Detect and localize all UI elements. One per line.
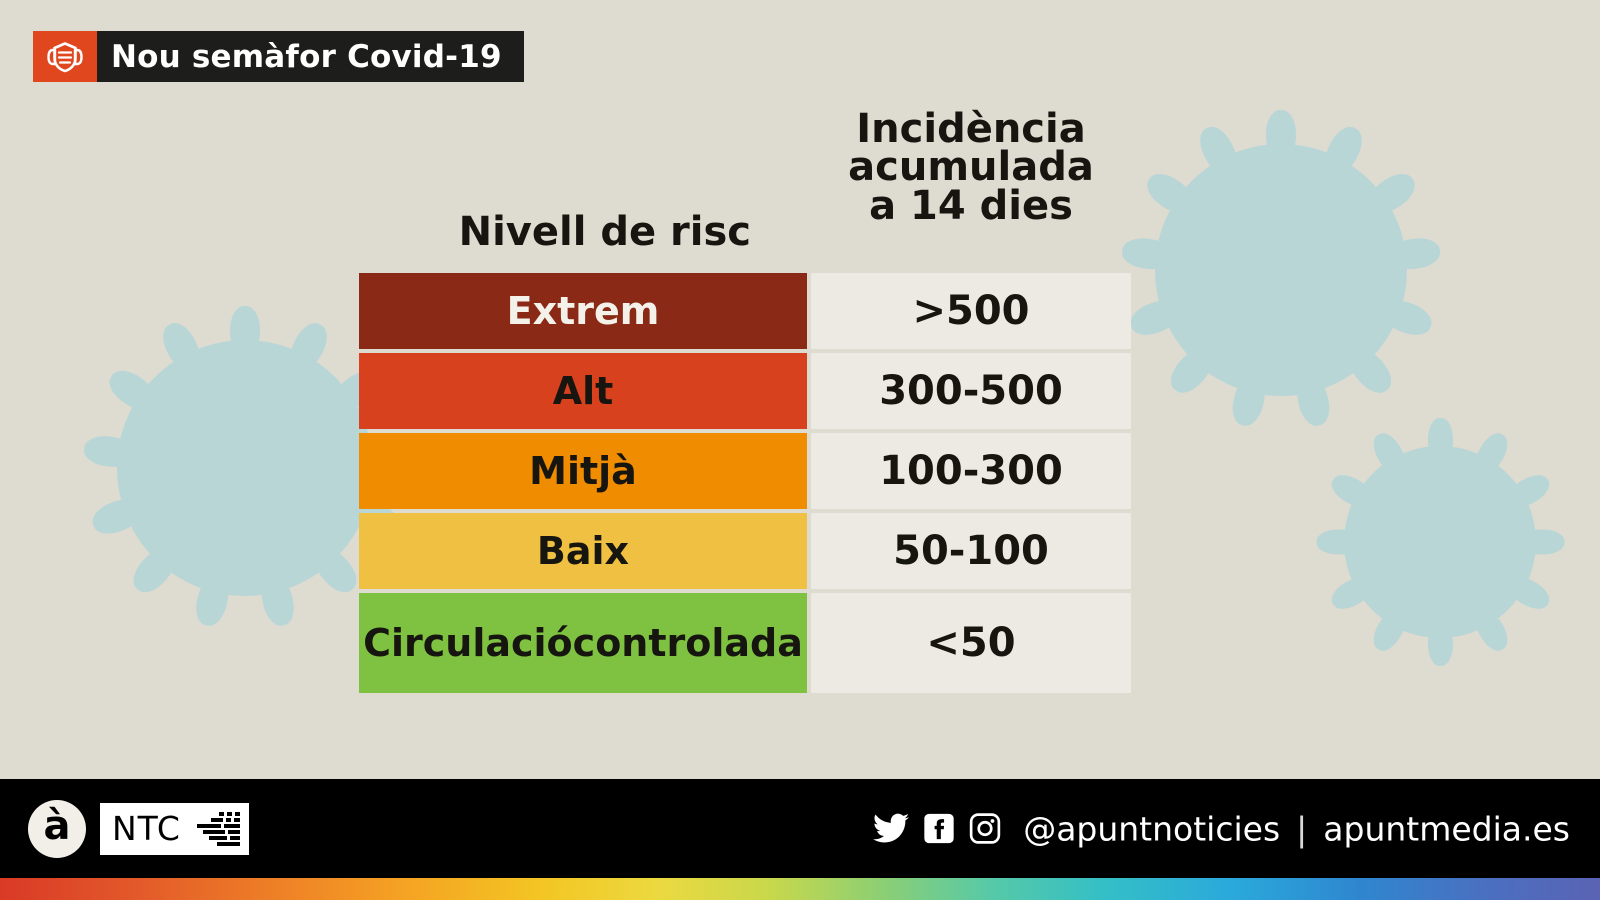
- virus-spike: [1377, 294, 1436, 340]
- risk-level-label: Baix: [537, 533, 629, 570]
- risk-level-label: Extrem: [507, 293, 660, 330]
- risk-level-label: Circulació: [363, 625, 573, 662]
- virus-spike: [1326, 469, 1378, 514]
- virus-spike: [230, 306, 260, 358]
- table-row: Extrem>500: [359, 273, 1131, 349]
- virus-spike: [1501, 469, 1553, 514]
- footer-bar: à NTC: [0, 779, 1600, 878]
- virus-particle: [1121, 110, 1441, 430]
- incidence-value-cell: 50-100: [811, 513, 1131, 589]
- virus-spike: [1361, 167, 1421, 221]
- virus-spike: [192, 571, 234, 629]
- column-header-incidence-line2: acumulada: [812, 148, 1130, 186]
- virus-spike: [156, 318, 207, 378]
- table-row: Mitjà100-300: [359, 433, 1131, 509]
- virus-spike: [1193, 121, 1244, 181]
- column-header-risk-level: Nivell de risc: [459, 209, 751, 255]
- virus-body: [117, 340, 373, 596]
- virus-spike: [88, 493, 147, 539]
- facebook-icon[interactable]: [923, 813, 955, 845]
- ntc-logo-text: NTC: [112, 812, 181, 845]
- footer-separator: |: [1294, 809, 1309, 848]
- virus-particle: [1316, 418, 1564, 666]
- risk-level-cell: Mitjà: [359, 433, 807, 509]
- virus-spike: [1316, 530, 1362, 555]
- risk-level-table: Extrem>500Alt300-500Mitjà100-300Baix50-1…: [359, 273, 1131, 697]
- incidence-value-cell: 100-300: [811, 433, 1131, 509]
- virus-spike: [1318, 121, 1369, 181]
- virus-spike: [1386, 236, 1441, 272]
- virus-body: [1155, 144, 1407, 396]
- virus-spike: [1120, 236, 1175, 272]
- table-row: Baix50-100: [359, 513, 1131, 589]
- virus-spike: [1428, 620, 1453, 666]
- column-header-incidence: Incidència acumulada a 14 dies: [812, 110, 1130, 225]
- twitter-icon[interactable]: [873, 814, 909, 844]
- footer-social: @apuntnoticies | apuntmedia.es: [873, 809, 1570, 848]
- virus-body: [1344, 446, 1536, 638]
- face-mask-icon: [33, 31, 97, 82]
- virus-spike: [1292, 371, 1334, 429]
- virus-spike: [1326, 570, 1378, 615]
- risk-level-label: Mitjà: [529, 453, 637, 490]
- ntc-stripes-icon: [189, 809, 241, 849]
- risk-level-cell: Extrem: [359, 273, 807, 349]
- virus-spike: [1266, 110, 1296, 162]
- incidence-value-cell: <50: [811, 593, 1131, 693]
- virus-spike: [1428, 418, 1453, 464]
- apunt-logo: à: [28, 800, 86, 858]
- virus-spike: [257, 571, 299, 629]
- virus-spike: [1228, 371, 1270, 429]
- virus-spike: [283, 318, 334, 378]
- column-header-incidence-line3: a 14 dies: [812, 187, 1130, 225]
- risk-level-cell: Alt: [359, 353, 807, 429]
- header-title: Nou semàfor Covid-19: [97, 31, 524, 82]
- virus-spike: [1468, 428, 1513, 480]
- table-row: Alt300-500: [359, 353, 1131, 429]
- virus-spike: [1126, 294, 1185, 340]
- virus-spike: [82, 434, 137, 470]
- virus-spike: [1341, 341, 1398, 400]
- header-badge: Nou semàfor Covid-19: [33, 31, 524, 82]
- footer-website: apuntmedia.es: [1323, 809, 1570, 848]
- virus-spike: [1518, 530, 1564, 555]
- risk-level-label: Alt: [553, 373, 614, 410]
- risk-level-label-line2: controlada: [573, 625, 803, 662]
- incidence-value-cell: >500: [811, 273, 1131, 349]
- rainbow-gradient-bar: [0, 878, 1600, 900]
- virus-spike: [1164, 341, 1221, 400]
- virus-spike: [126, 540, 183, 599]
- virus-spike: [103, 364, 163, 418]
- virus-spike: [1141, 167, 1201, 221]
- risk-level-cell: Baix: [359, 513, 807, 589]
- virus-spike: [307, 540, 364, 599]
- virus-spike: [1367, 603, 1412, 655]
- virus-spike: [1468, 603, 1513, 655]
- footer-branding: à NTC: [28, 800, 249, 858]
- social-handle: @apuntnoticies: [1023, 809, 1280, 848]
- virus-spike: [1367, 428, 1412, 480]
- ntc-logo: NTC: [100, 803, 249, 855]
- table-row: Circulaciócontrolada<50: [359, 593, 1131, 693]
- incidence-value-cell: 300-500: [811, 353, 1131, 429]
- virus-spike: [1501, 570, 1553, 615]
- instagram-icon[interactable]: [969, 813, 1001, 845]
- column-header-incidence-line1: Incidència: [812, 110, 1130, 148]
- risk-level-cell: Circulaciócontrolada: [359, 593, 807, 693]
- infographic-canvas: Nou semàfor Covid-19 Nivell de risc Inci…: [0, 0, 1600, 900]
